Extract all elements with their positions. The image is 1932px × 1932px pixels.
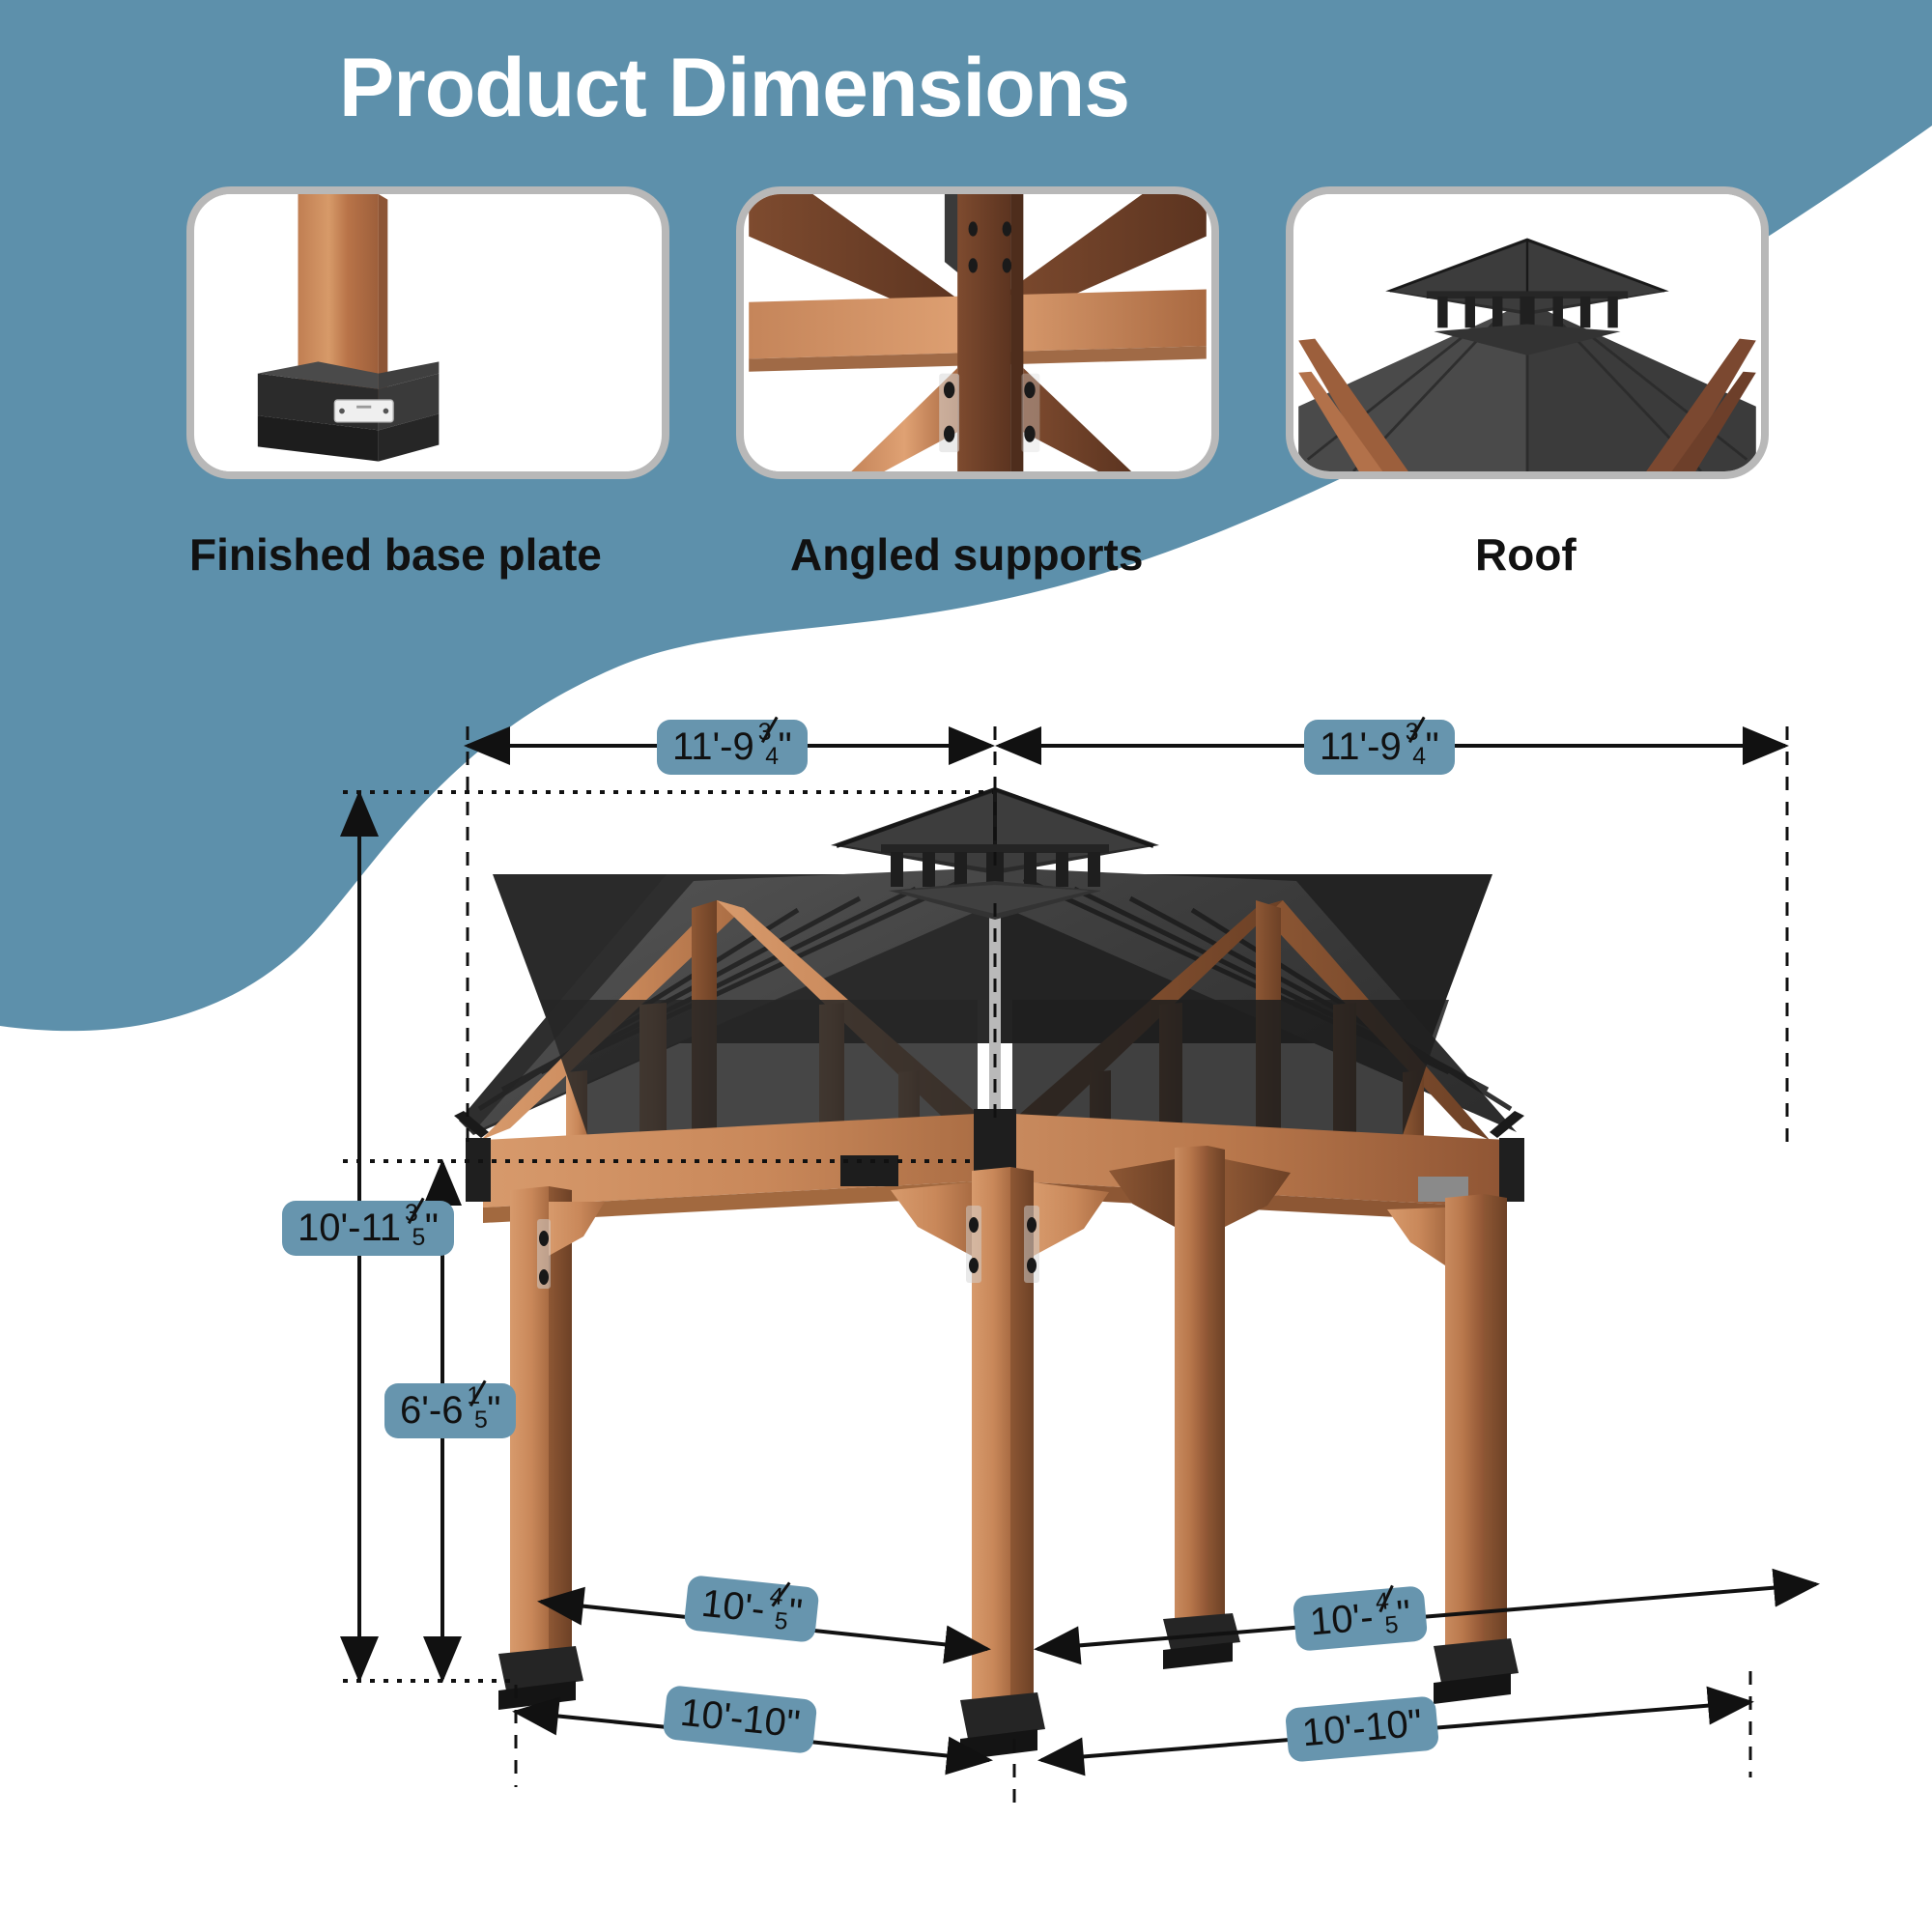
dim-value: 10'-10 [678,1691,788,1745]
dim-unit: " [779,725,792,768]
dim-unit: " [1406,1702,1424,1746]
dim-value: 6'-6 [400,1389,463,1432]
dim-value: 10'-11 [298,1207,401,1249]
dim-unit: " [783,1702,802,1746]
dimension-label-clear-height: 6'-615" [384,1383,516,1438]
dim-unit: " [425,1207,439,1249]
gazebo-dimension-diagram [0,0,1932,1932]
dim-value: 10'- [699,1582,767,1632]
dim-value: 10'- [1308,1596,1375,1644]
dim-value: 10'-10 [1300,1703,1409,1754]
dimension-label-top-right: 11'-934" [1304,720,1455,775]
post-front-right [1434,1194,1519,1704]
dim-unit: " [1426,725,1439,768]
dimension-label-post-span-right: 10'-45" [1293,1585,1429,1652]
dim-value: 11'-9 [672,725,754,768]
dim-unit: " [487,1389,500,1432]
dimension-label-top-left: 11'-934" [657,720,808,775]
dimension-label-total-height: 10'-1135" [282,1201,454,1256]
dim-value: 11'-9 [1320,725,1402,768]
